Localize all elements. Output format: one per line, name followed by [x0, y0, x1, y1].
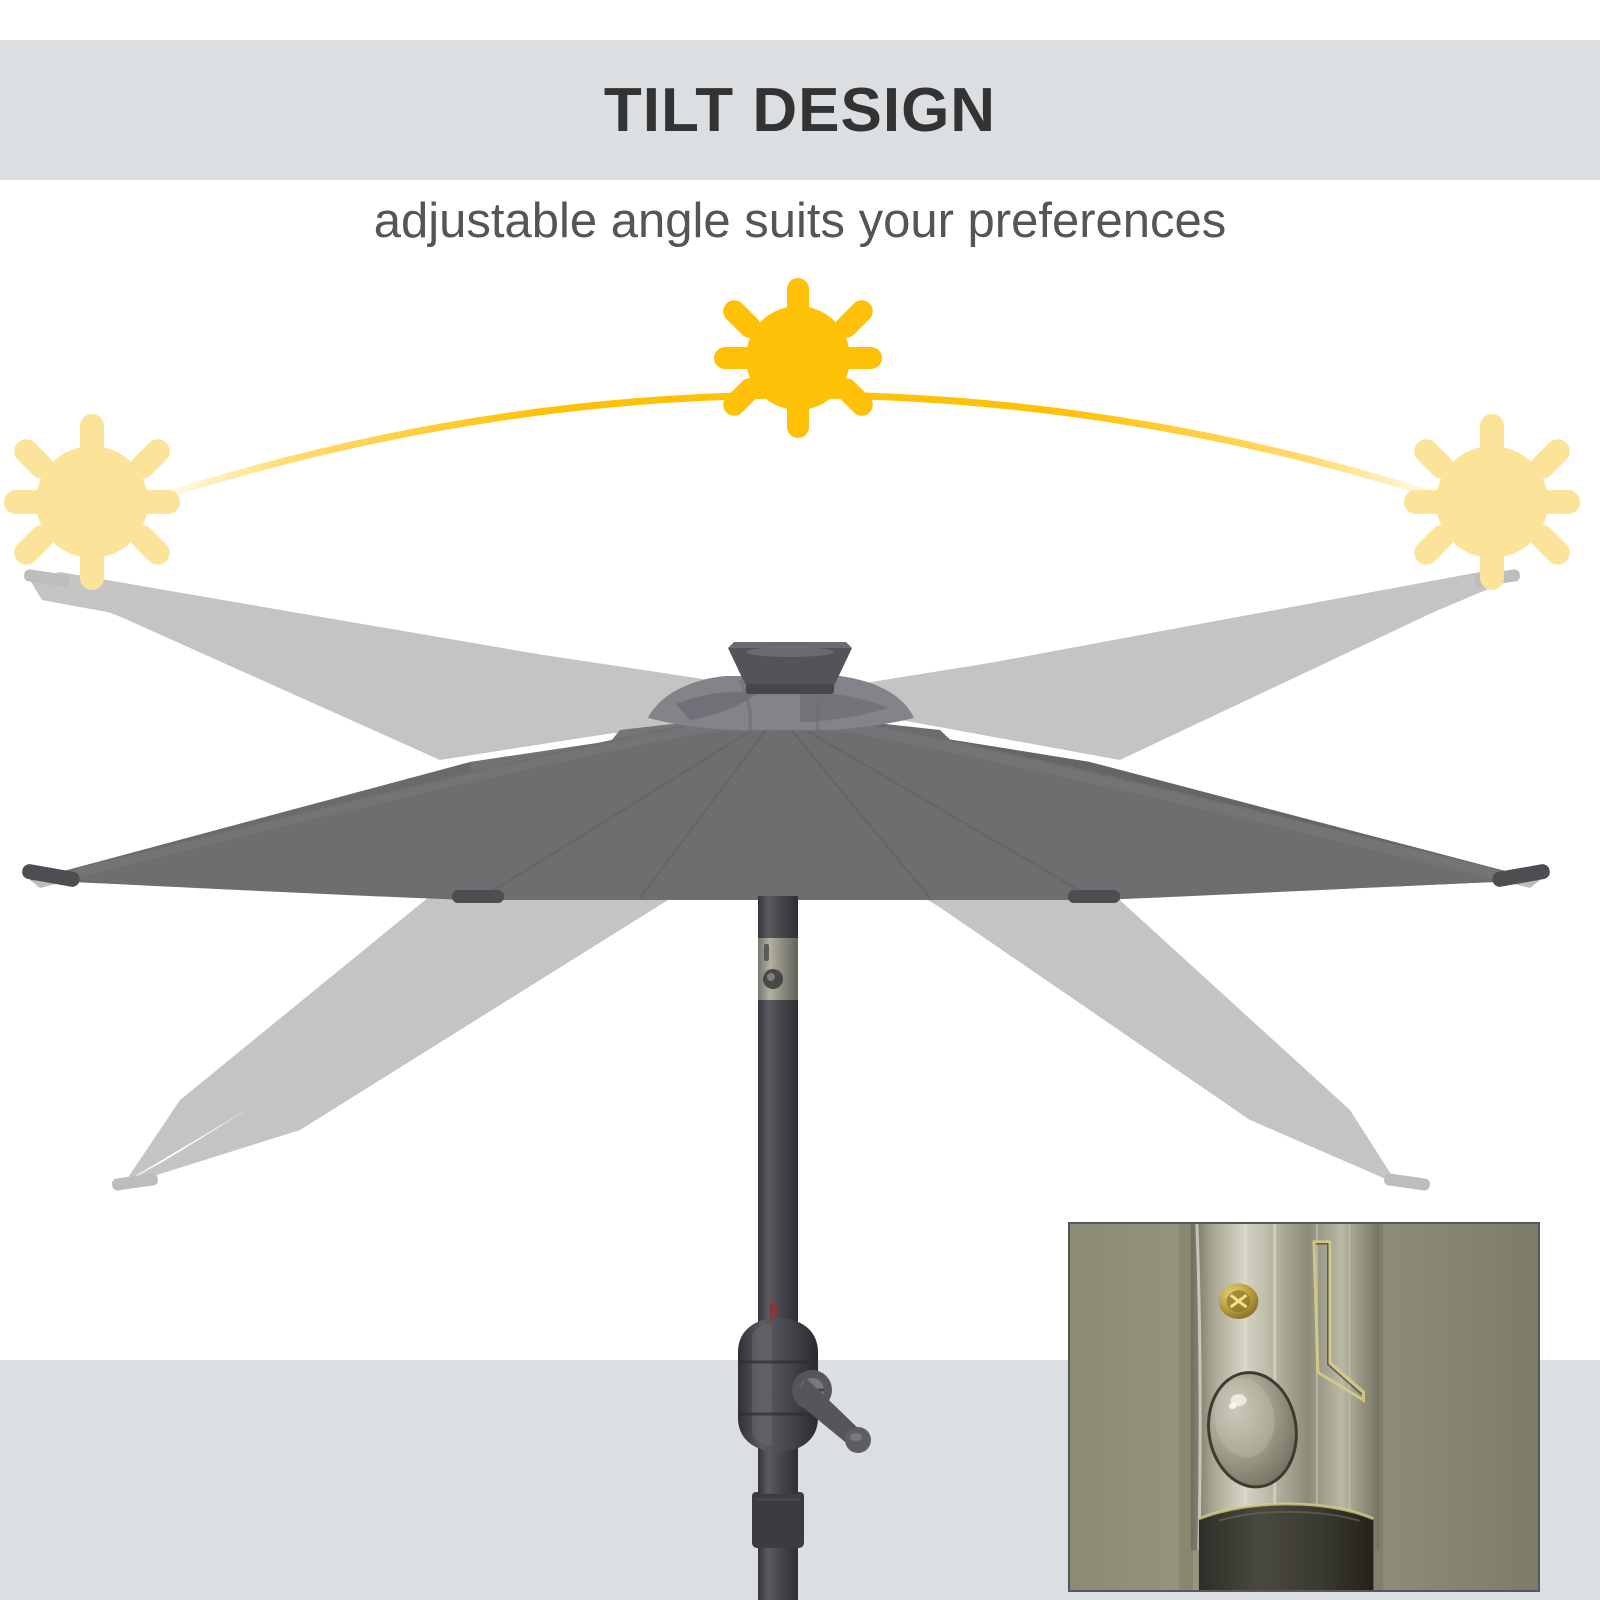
canopy-silhouette	[30, 712, 1540, 900]
sun-right-icon	[1404, 414, 1580, 590]
finial-collar	[746, 684, 834, 694]
rib-tip-front-right	[1068, 890, 1120, 903]
infographic-canvas: TILT DESIGN adjustable angle suits your …	[0, 0, 1600, 1600]
sun-left-icon	[4, 414, 180, 590]
inset-detail-photo	[1068, 1222, 1540, 1592]
canopy-hub-finial	[728, 642, 852, 694]
crank-housing-highlight	[752, 1324, 772, 1446]
ghost-tilt-up-right-fill	[778, 579, 1512, 700]
finial-highlight	[746, 647, 834, 657]
rib-tip-front-left	[452, 890, 504, 903]
pole-collar-lower-front	[752, 1494, 804, 1548]
inset-photo-art	[1070, 1224, 1538, 1590]
umbrella-pole-front	[752, 896, 804, 1600]
umbrella-canopy	[21, 712, 1551, 903]
crank-handle-mechanism	[738, 1318, 871, 1453]
ghost-rib-tip-lower-right	[1383, 1173, 1430, 1191]
sun-center-icon	[714, 278, 882, 438]
